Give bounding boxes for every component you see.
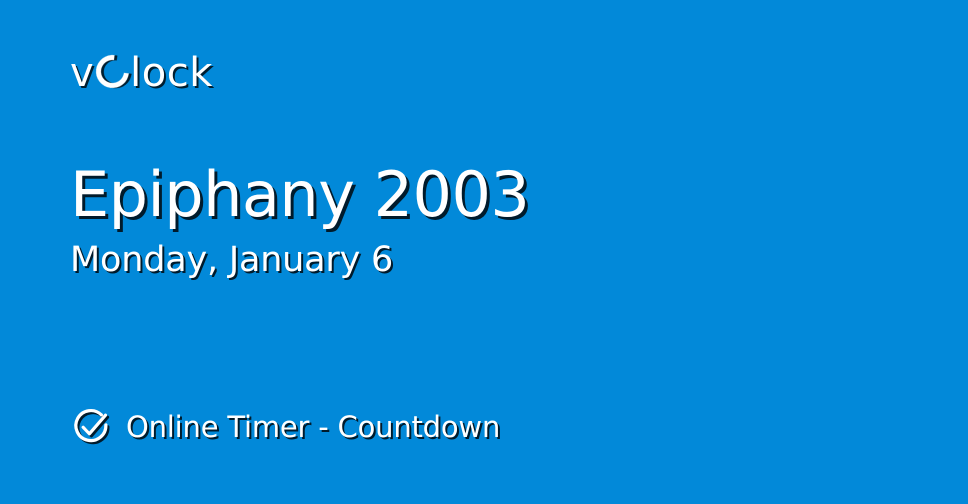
page-title: Epiphany 2003 bbox=[70, 162, 890, 229]
brand-wordmark: v lock bbox=[70, 53, 213, 93]
brand-text-prefix: v bbox=[70, 53, 94, 93]
clock-circle-logo-icon bbox=[96, 55, 129, 88]
online-timer-countdown-link[interactable]: Online Timer - Countdown bbox=[70, 406, 500, 448]
event-date: Monday, January 6 bbox=[70, 241, 890, 280]
brand-logo[interactable]: v lock bbox=[70, 48, 213, 98]
headline-block: Epiphany 2003 Monday, January 6 bbox=[70, 162, 890, 280]
page-root: v lock Epiphany 2003 Monday, January 6 O… bbox=[0, 0, 968, 504]
online-timer-countdown-label: Online Timer - Countdown bbox=[126, 413, 500, 442]
circle-check-timer-icon bbox=[70, 406, 112, 448]
brand-text-suffix: lock bbox=[130, 53, 213, 93]
